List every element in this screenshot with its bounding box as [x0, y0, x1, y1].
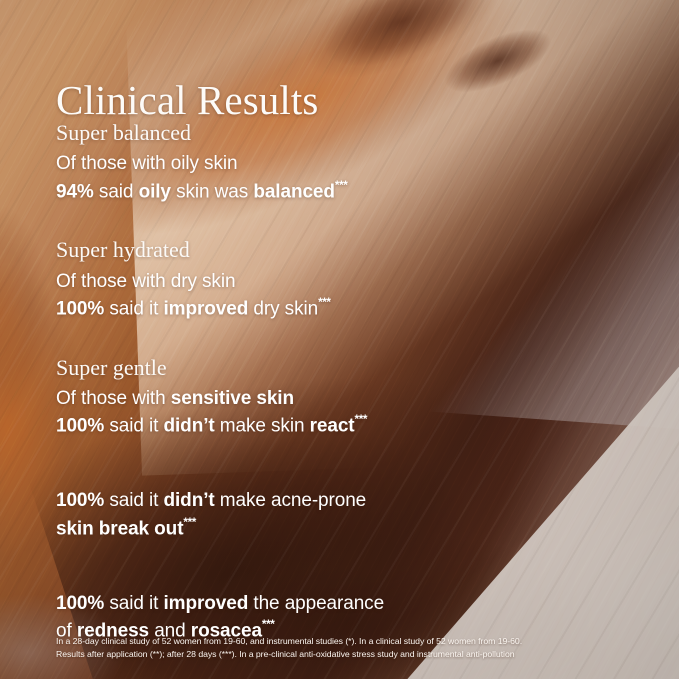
section-spacer	[56, 470, 639, 487]
stat-text: said it	[104, 490, 163, 511]
section-heading: Super balanced	[56, 118, 639, 147]
result-section: Super balancedOf those with oily skin94%…	[56, 118, 639, 205]
clinical-results-card: Clinical Results Super balancedOf those …	[0, 0, 679, 679]
section-heading: Super hydrated	[56, 235, 639, 264]
stat-text: make skin	[215, 416, 310, 437]
stat-emphasis: didn’t	[164, 490, 215, 511]
stat-emphasis: 100%	[56, 299, 104, 320]
stat-emphasis: sensitive skin	[171, 388, 294, 409]
stat-text: said it	[104, 299, 163, 320]
footnote-line-1: In a 28-day clinical study of 52 women f…	[56, 635, 639, 648]
stat-emphasis: 94%	[56, 181, 94, 202]
stat-emphasis: oily	[139, 181, 171, 202]
section-spacer	[56, 573, 639, 590]
stat-text: said	[94, 181, 139, 202]
stat-line: Of those with sensitive skin	[56, 385, 639, 412]
footnote: In a 28-day clinical study of 52 women f…	[56, 635, 639, 661]
footnote-marker: ***	[335, 179, 348, 192]
stat-text: said it	[104, 593, 163, 614]
footnote-line-2: Results after application (**); after 28…	[56, 648, 639, 661]
stat-emphasis: didn’t	[164, 416, 215, 437]
stat-text: skin was	[171, 181, 253, 202]
stat-emphasis: improved	[164, 299, 249, 320]
stat-line: 100% said it improved the appearance	[56, 590, 639, 617]
page-title: Clinical Results	[56, 79, 318, 122]
footnote-marker: ***	[262, 618, 275, 631]
stat-emphasis: 100%	[56, 593, 104, 614]
stat-emphasis: 100%	[56, 416, 104, 437]
stat-emphasis: react	[310, 416, 355, 437]
result-section: 100% said it didn’t make acne-proneskin …	[56, 470, 639, 542]
stat-text: said it	[104, 416, 163, 437]
section-heading: Super gentle	[56, 353, 639, 382]
stat-text: make acne-prone	[215, 490, 367, 511]
footnote-marker: ***	[183, 516, 196, 529]
content-layer: Clinical Results Super balancedOf those …	[0, 0, 679, 679]
stat-line: Of those with dry skin	[56, 268, 639, 295]
stat-emphasis: 100%	[56, 490, 104, 511]
stat-line: 100% said it improved dry skin***	[56, 295, 639, 323]
stat-emphasis: balanced	[253, 181, 335, 202]
stat-line: 100% said it didn’t make skin react***	[56, 412, 639, 440]
stat-text: the appearance	[248, 593, 384, 614]
result-section: Super gentleOf those with sensitive skin…	[56, 353, 639, 440]
stat-line: 94% said oily skin was balanced***	[56, 178, 639, 206]
results-sections: Super balancedOf those with oily skin94%…	[56, 118, 639, 645]
stat-text: Of those with oily skin	[56, 153, 237, 174]
stat-emphasis: improved	[164, 593, 249, 614]
stat-emphasis: skin break out	[56, 518, 183, 539]
stat-text: Of those with dry skin	[56, 271, 235, 292]
stat-text: Of those with	[56, 388, 171, 409]
footnote-marker: ***	[318, 296, 331, 309]
stat-text: dry skin	[248, 299, 318, 320]
stat-line: Of those with oily skin	[56, 150, 639, 177]
stat-line: 100% said it didn’t make acne-prone	[56, 487, 639, 514]
stat-line: skin break out***	[56, 515, 639, 543]
result-section: Super hydratedOf those with dry skin100%…	[56, 235, 639, 322]
footnote-marker: ***	[355, 413, 368, 426]
